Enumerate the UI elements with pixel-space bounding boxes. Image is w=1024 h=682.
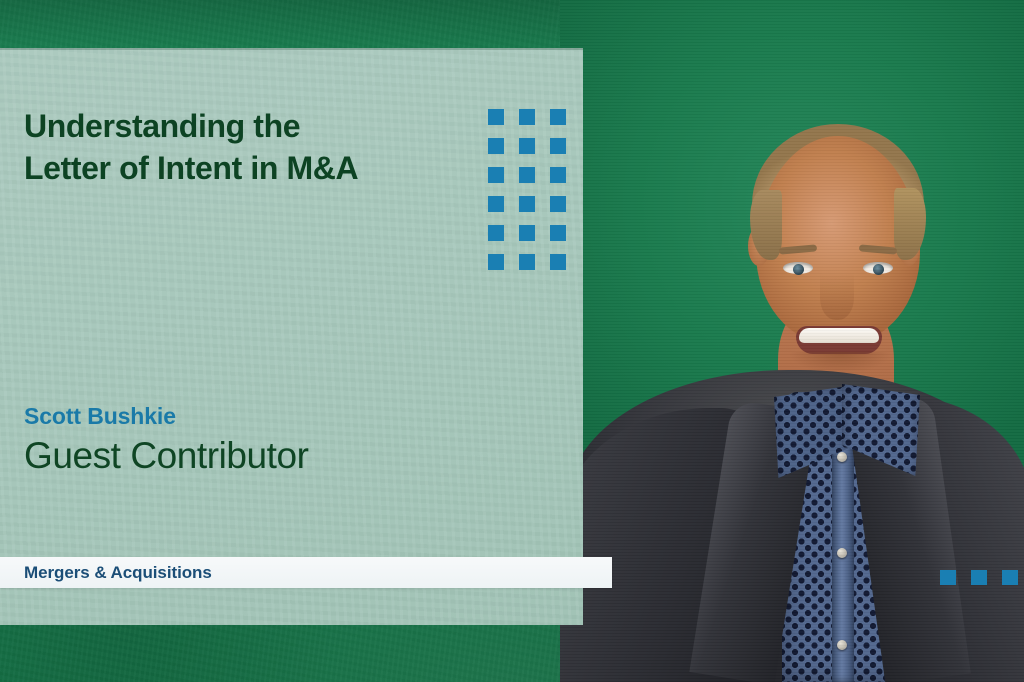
byline: Scott Bushkie Guest Contributor bbox=[24, 403, 308, 478]
category-label: Mergers & Acquisitions bbox=[24, 563, 212, 583]
category-bar[interactable]: Mergers & Acquisitions bbox=[0, 557, 612, 588]
square-dot-icon bbox=[550, 225, 566, 241]
square-dot-icon bbox=[488, 254, 504, 270]
page-title: Understanding the Letter of Intent in M&… bbox=[24, 106, 494, 189]
portrait-shirt-button bbox=[837, 548, 847, 558]
square-dot-icon bbox=[519, 109, 535, 125]
square-dot-icon bbox=[488, 138, 504, 154]
square-dot-icon bbox=[1002, 570, 1018, 585]
square-dot-icon bbox=[488, 196, 504, 212]
square-dot-icon bbox=[971, 570, 987, 585]
square-dot-icon bbox=[940, 570, 956, 585]
square-dot-icon bbox=[550, 196, 566, 212]
author-role: Guest Contributor bbox=[24, 434, 308, 478]
portrait-mouth bbox=[796, 326, 882, 354]
square-dot-icon bbox=[488, 225, 504, 241]
square-dot-icon bbox=[550, 109, 566, 125]
page-title-line-1: Understanding the bbox=[24, 106, 494, 148]
square-dot-icon bbox=[488, 109, 504, 125]
page-title-line-2: Letter of Intent in M&A bbox=[24, 148, 494, 190]
square-dot-icon bbox=[519, 167, 535, 183]
portrait-shirt-button bbox=[837, 452, 847, 462]
corner-dots-decoration bbox=[940, 570, 1018, 585]
square-dot-icon bbox=[488, 167, 504, 183]
portrait-nose bbox=[820, 272, 854, 320]
square-dot-icon bbox=[550, 138, 566, 154]
dot-grid-decoration bbox=[488, 109, 566, 270]
square-dot-icon bbox=[519, 254, 535, 270]
author-name: Scott Bushkie bbox=[24, 403, 308, 429]
square-dot-icon bbox=[550, 167, 566, 183]
square-dot-icon bbox=[519, 225, 535, 241]
square-dot-icon bbox=[550, 254, 566, 270]
portrait-teeth bbox=[799, 328, 879, 343]
portrait-iris-right bbox=[873, 264, 884, 275]
panel-top-edge bbox=[0, 48, 583, 50]
square-dot-icon bbox=[519, 138, 535, 154]
square-dot-icon bbox=[519, 196, 535, 212]
portrait-chin-shadow bbox=[788, 352, 892, 374]
portrait-shirt-button bbox=[837, 640, 847, 650]
portrait-iris-left bbox=[793, 264, 804, 275]
